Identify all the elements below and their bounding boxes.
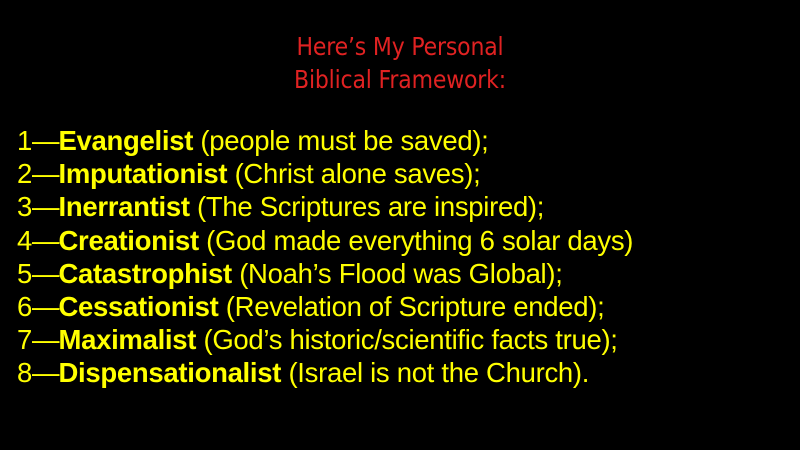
slide-canvas: Here’s My Personal Biblical Framework: 1… [0, 0, 800, 450]
list-item-dash: — [32, 357, 59, 388]
list-item: 8—Dispensationalist (Israel is not the C… [17, 356, 792, 389]
list-item-number: 4 [17, 225, 32, 256]
list-item-number: 1 [17, 125, 32, 156]
list-item-detail: (The Scriptures are inspired); [190, 191, 544, 222]
list-item: 4—Creationist (God made everything 6 sol… [17, 224, 792, 257]
list-item-detail: (Israel is not the Church). [281, 357, 589, 388]
list-item-number: 7 [17, 324, 32, 355]
list-item-dash: — [32, 125, 59, 156]
list-item-number: 3 [17, 191, 32, 222]
title-line-1: Here’s My Personal [48, 30, 752, 63]
list-item: 5—Catastrophist (Noah’s Flood was Global… [17, 257, 792, 290]
list-item-dash: — [32, 158, 59, 189]
list-item-term: Catastrophist [59, 258, 232, 289]
page-title: Here’s My Personal Biblical Framework: [48, 30, 752, 96]
list-item-term: Dispensationalist [59, 357, 282, 388]
list-item-dash: — [32, 291, 59, 322]
list-item-number: 5 [17, 258, 32, 289]
list-item-detail: (Revelation of Scripture ended); [218, 291, 604, 322]
framework-list: 1—Evangelist (people must be saved);2—Im… [17, 124, 792, 390]
list-item-detail: (God’s historic/scientific facts true); [196, 324, 618, 355]
list-item-dash: — [32, 225, 59, 256]
list-item-number: 2 [17, 158, 32, 189]
list-item-detail: (people must be saved); [193, 125, 488, 156]
list-item-detail: (Christ alone saves); [227, 158, 480, 189]
list-item: 6—Cessationist (Revelation of Scripture … [17, 290, 792, 323]
list-item-detail: (Noah’s Flood was Global); [232, 258, 563, 289]
list-item-number: 8 [17, 357, 32, 388]
list-item-number: 6 [17, 291, 32, 322]
list-item-term: Creationist [59, 225, 199, 256]
list-item: 1—Evangelist (people must be saved); [17, 124, 792, 157]
list-item: 7—Maximalist (God’s historic/scientific … [17, 323, 792, 356]
list-item: 2—Imputationist (Christ alone saves); [17, 157, 792, 190]
list-item-term: Maximalist [59, 324, 197, 355]
list-item: 3—Inerrantist (The Scriptures are inspir… [17, 190, 792, 223]
list-item-term: Cessationist [59, 291, 219, 322]
list-item-dash: — [32, 258, 59, 289]
list-item-dash: — [32, 191, 59, 222]
list-item-term: Imputationist [59, 158, 228, 189]
list-item-term: Inerrantist [59, 191, 190, 222]
list-item-detail: (God made everything 6 solar days) [199, 225, 633, 256]
list-item-dash: — [32, 324, 59, 355]
title-line-2: Biblical Framework: [48, 63, 752, 96]
list-item-term: Evangelist [59, 125, 194, 156]
